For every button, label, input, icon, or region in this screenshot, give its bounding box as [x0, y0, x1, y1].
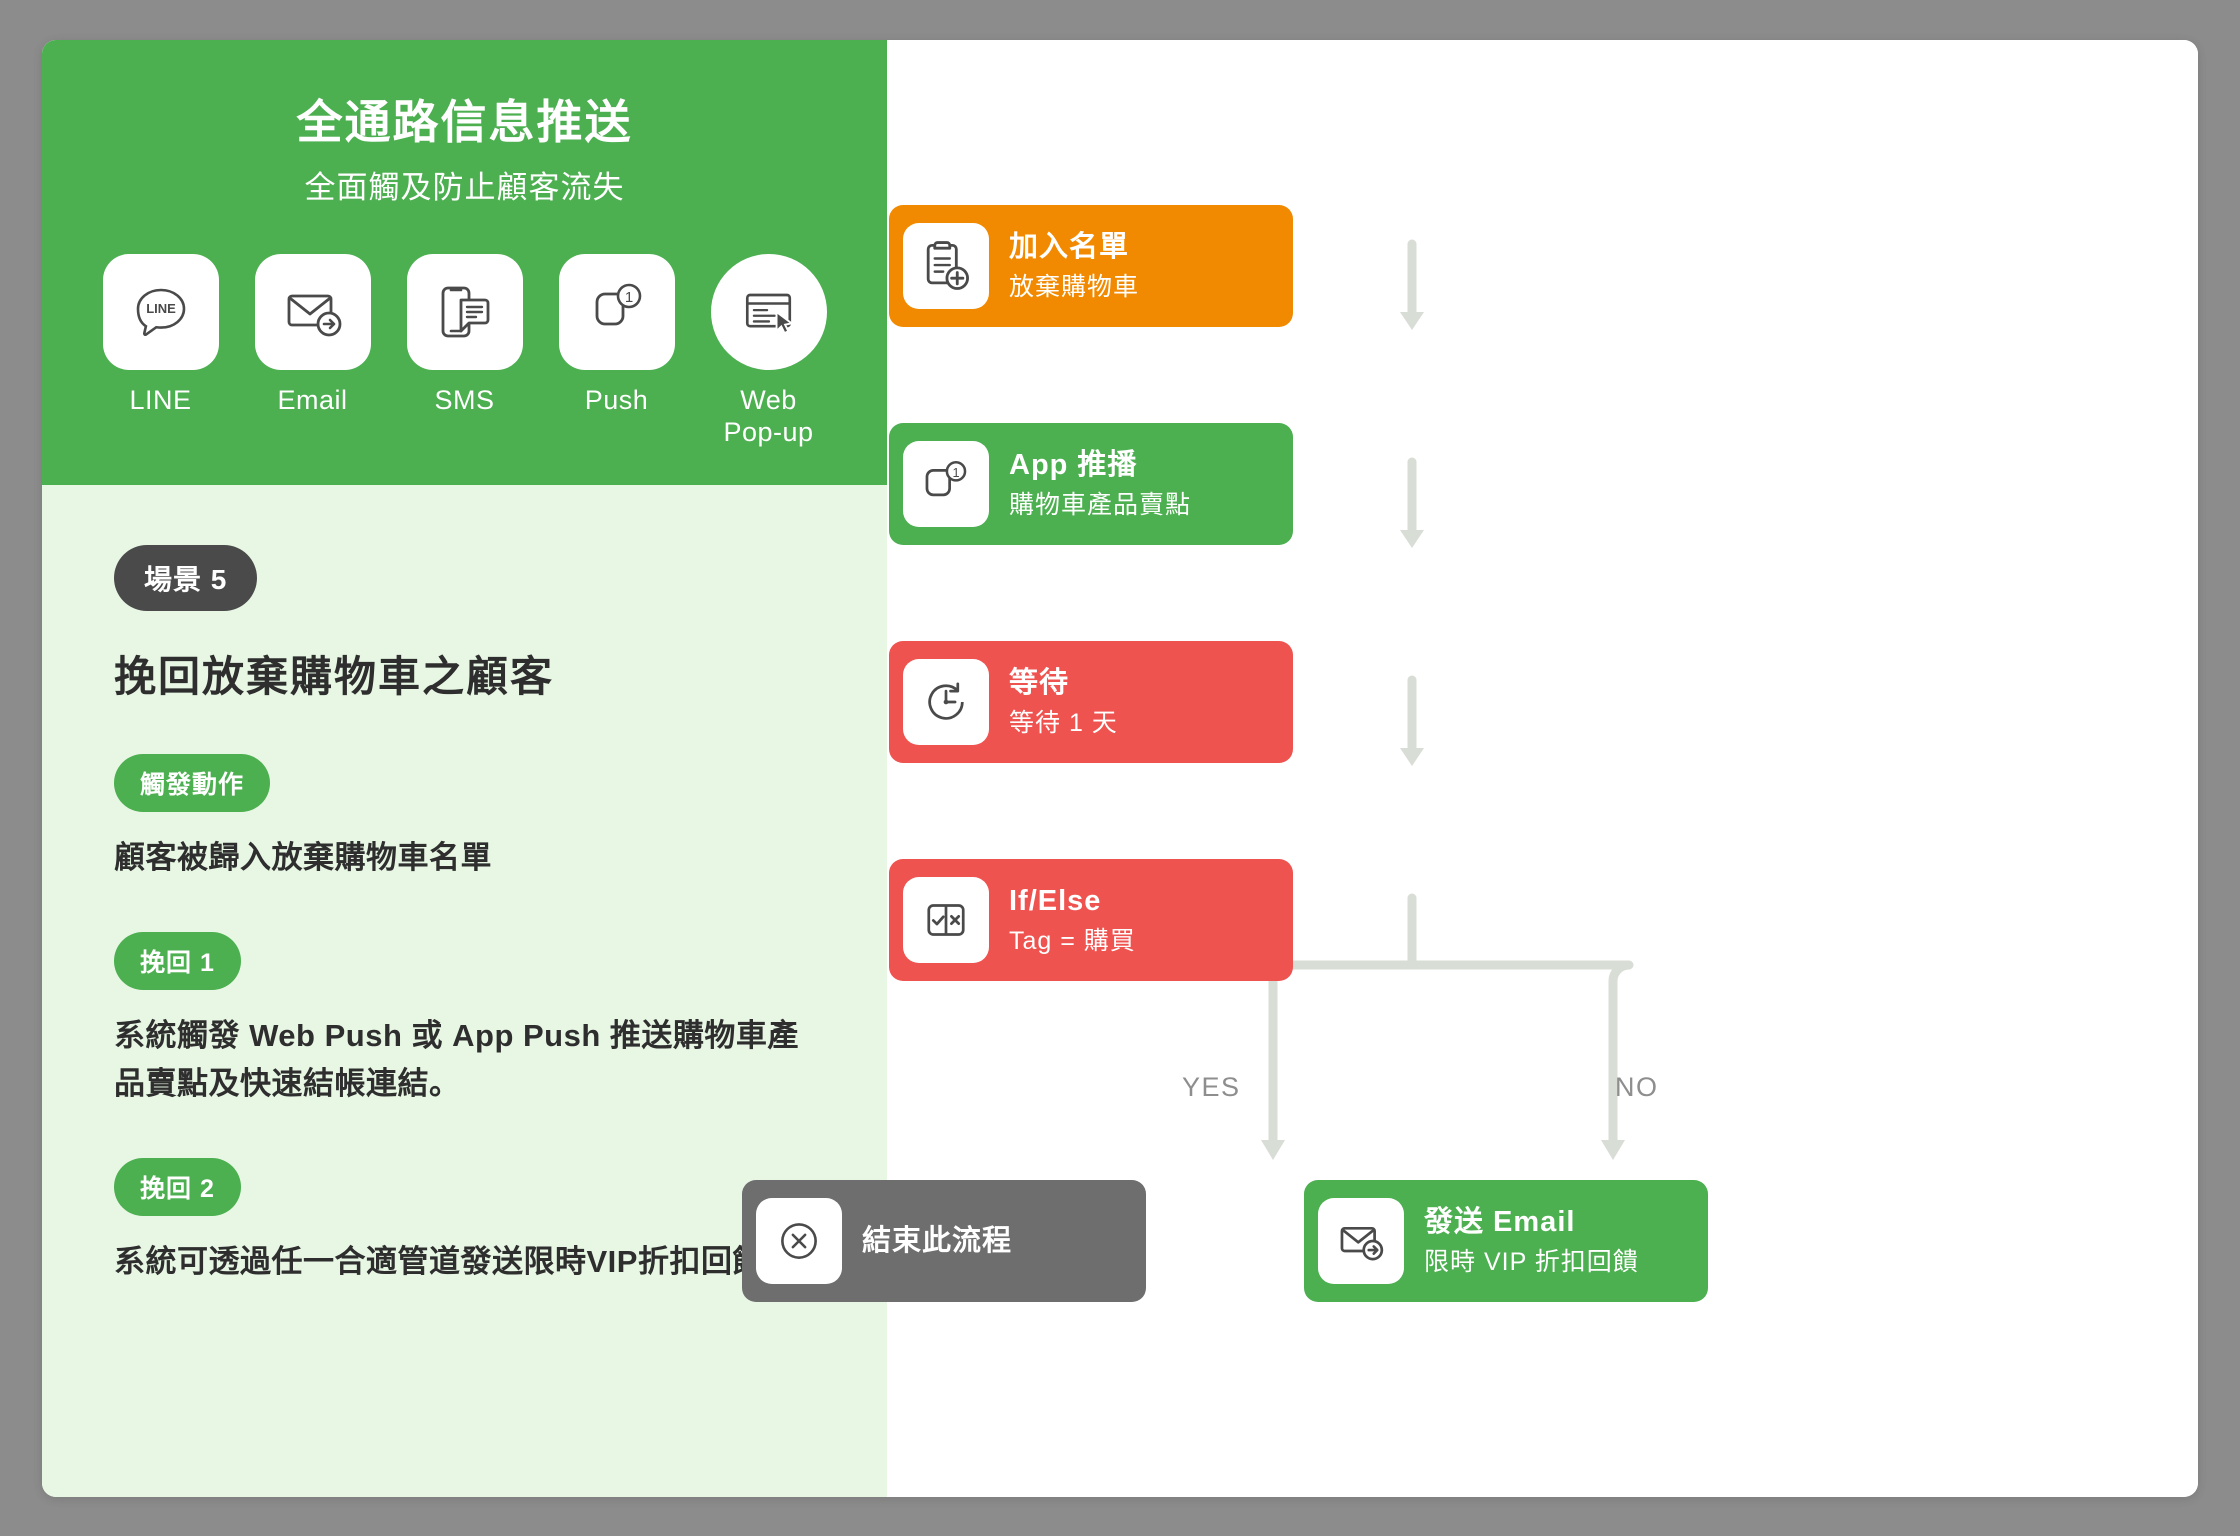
sms-tile: [407, 254, 523, 370]
envelope-arrow-icon-wrap: [1318, 1198, 1404, 1284]
channel-label: Email: [277, 385, 347, 417]
page-title: 全通路信息推送: [42, 94, 887, 152]
email-tile: [255, 254, 371, 370]
node-text: 等待 等待 1 天: [1009, 665, 1118, 740]
web-popup-tile: [711, 254, 827, 370]
node-title: 發送 Email: [1424, 1204, 1639, 1240]
block-badge: 挽回 1: [114, 932, 241, 990]
envelope-arrow-icon: [1332, 1212, 1390, 1270]
circle-x-icon-wrap: [756, 1198, 842, 1284]
channel-label: LINE: [129, 385, 191, 417]
node-text: If/Else Tag = 購買: [1009, 883, 1136, 958]
node-subtitle: 限時 VIP 折扣回饋: [1424, 1247, 1639, 1278]
channel-label: SMS: [434, 385, 494, 417]
block-trigger: 觸發動作 顧客被歸入放棄購物車名單: [114, 754, 817, 882]
block-badge: 挽回 2: [114, 1158, 241, 1216]
flow-node-send-email[interactable]: 發送 Email 限時 VIP 折扣回饋: [1304, 1180, 1708, 1302]
channel-line[interactable]: LINE LINE: [98, 254, 224, 417]
scene-badge: 場景 5: [114, 545, 257, 611]
node-text: App 推播 購物車產品賣點: [1009, 447, 1191, 522]
arrowhead: [1400, 530, 1424, 548]
flow-node-end-flow[interactable]: 結束此流程: [742, 1180, 1146, 1302]
branch-label-no: NO: [1615, 1072, 1659, 1103]
block-recover-1: 挽回 1 系統觸發 Web Push 或 App Push 推送購物車產品賣點及…: [114, 932, 817, 1108]
node-subtitle: 放棄購物車: [1009, 272, 1139, 303]
block-text: 系統可透過任一合適管道發送限時VIP折扣回饋。: [114, 1238, 817, 1286]
block-text: 系統觸發 Web Push 或 App Push 推送購物車產品賣點及快速結帳連…: [114, 1012, 817, 1108]
channel-list: LINE LINE Email: [42, 254, 887, 453]
right-panel: 加入名單 放棄購物車 1 App 推播 購物車產品賣點: [887, 40, 2198, 1497]
node-text: 結束此流程: [862, 1223, 1012, 1259]
arrowhead: [1261, 1140, 1285, 1160]
node-text: 發送 Email 限時 VIP 折扣回饋: [1424, 1204, 1639, 1279]
block-text: 顧客被歸入放棄購物車名單: [114, 834, 817, 882]
channel-email[interactable]: Email: [250, 254, 376, 417]
node-subtitle: 等待 1 天: [1009, 708, 1118, 739]
channel-label: Push: [585, 385, 649, 417]
clipboard-plus-icon: [916, 236, 976, 296]
push-badge-icon: 1: [581, 276, 653, 348]
svg-text:1: 1: [952, 466, 959, 480]
line-chat-bubble-icon: LINE: [125, 276, 197, 348]
flow-node-app-push[interactable]: 1 App 推播 購物車產品賣點: [889, 423, 1293, 545]
arrowhead: [1400, 312, 1424, 330]
node-title: App 推播: [1009, 447, 1191, 483]
channel-web-popup[interactable]: Web Pop-up: [706, 254, 832, 449]
left-body: 場景 5 挽回放棄購物車之顧客 觸發動作 顧客被歸入放棄購物車名單 挽回 1 系…: [42, 485, 887, 1497]
flow-node-wait[interactable]: 等待 等待 1 天: [889, 641, 1293, 763]
clipboard-plus-icon-wrap: [903, 223, 989, 309]
push-tile: 1: [559, 254, 675, 370]
phone-message-icon: [429, 276, 501, 348]
node-title: 加入名單: [1009, 229, 1139, 265]
clock-rotate-icon: [917, 673, 975, 731]
browser-cursor-icon: [735, 278, 803, 346]
page-subtitle: 全面觸及防止顧客流失: [42, 168, 887, 208]
block-recover-2: 挽回 2 系統可透過任一合適管道發送限時VIP折扣回饋。: [114, 1158, 817, 1286]
line-tile: LINE: [103, 254, 219, 370]
flow-node-if-else[interactable]: If/Else Tag = 購買: [889, 859, 1293, 981]
channel-sms[interactable]: SMS: [402, 254, 528, 417]
node-text: 加入名單 放棄購物車: [1009, 229, 1139, 304]
scene-title: 挽回放棄購物車之顧客: [114, 643, 817, 704]
arrowhead: [1400, 748, 1424, 766]
channel-label: Web Pop-up: [723, 385, 813, 449]
arrowhead: [1601, 1140, 1625, 1160]
flow-node-add-to-list[interactable]: 加入名單 放棄購物車: [889, 205, 1293, 327]
svg-text:1: 1: [624, 289, 632, 306]
flow-diagram: 加入名單 放棄購物車 1 App 推播 購物車產品賣點: [887, 40, 2198, 1497]
push-badge-icon-wrap: 1: [903, 441, 989, 527]
node-subtitle: Tag = 購買: [1009, 926, 1136, 957]
clock-rotate-icon-wrap: [903, 659, 989, 745]
block-badge: 觸發動作: [114, 754, 270, 812]
push-badge-icon: 1: [917, 455, 975, 513]
node-subtitle: 購物車產品賣點: [1009, 490, 1191, 521]
envelope-arrow-icon: [277, 276, 349, 348]
split-check-x-icon: [917, 891, 975, 949]
infographic-card: 全通路信息推送 全面觸及防止顧客流失 LINE LINE: [42, 40, 2198, 1497]
node-title: 結束此流程: [862, 1223, 1012, 1259]
svg-text:LINE: LINE: [146, 301, 176, 316]
split-check-x-icon-wrap: [903, 877, 989, 963]
channel-push[interactable]: 1 Push: [554, 254, 680, 417]
node-title: If/Else: [1009, 883, 1136, 919]
left-header: 全通路信息推送 全面觸及防止顧客流失 LINE LINE: [42, 40, 887, 485]
node-title: 等待: [1009, 665, 1118, 701]
branch-label-yes: YES: [1182, 1072, 1241, 1103]
circle-x-icon: [771, 1213, 827, 1269]
